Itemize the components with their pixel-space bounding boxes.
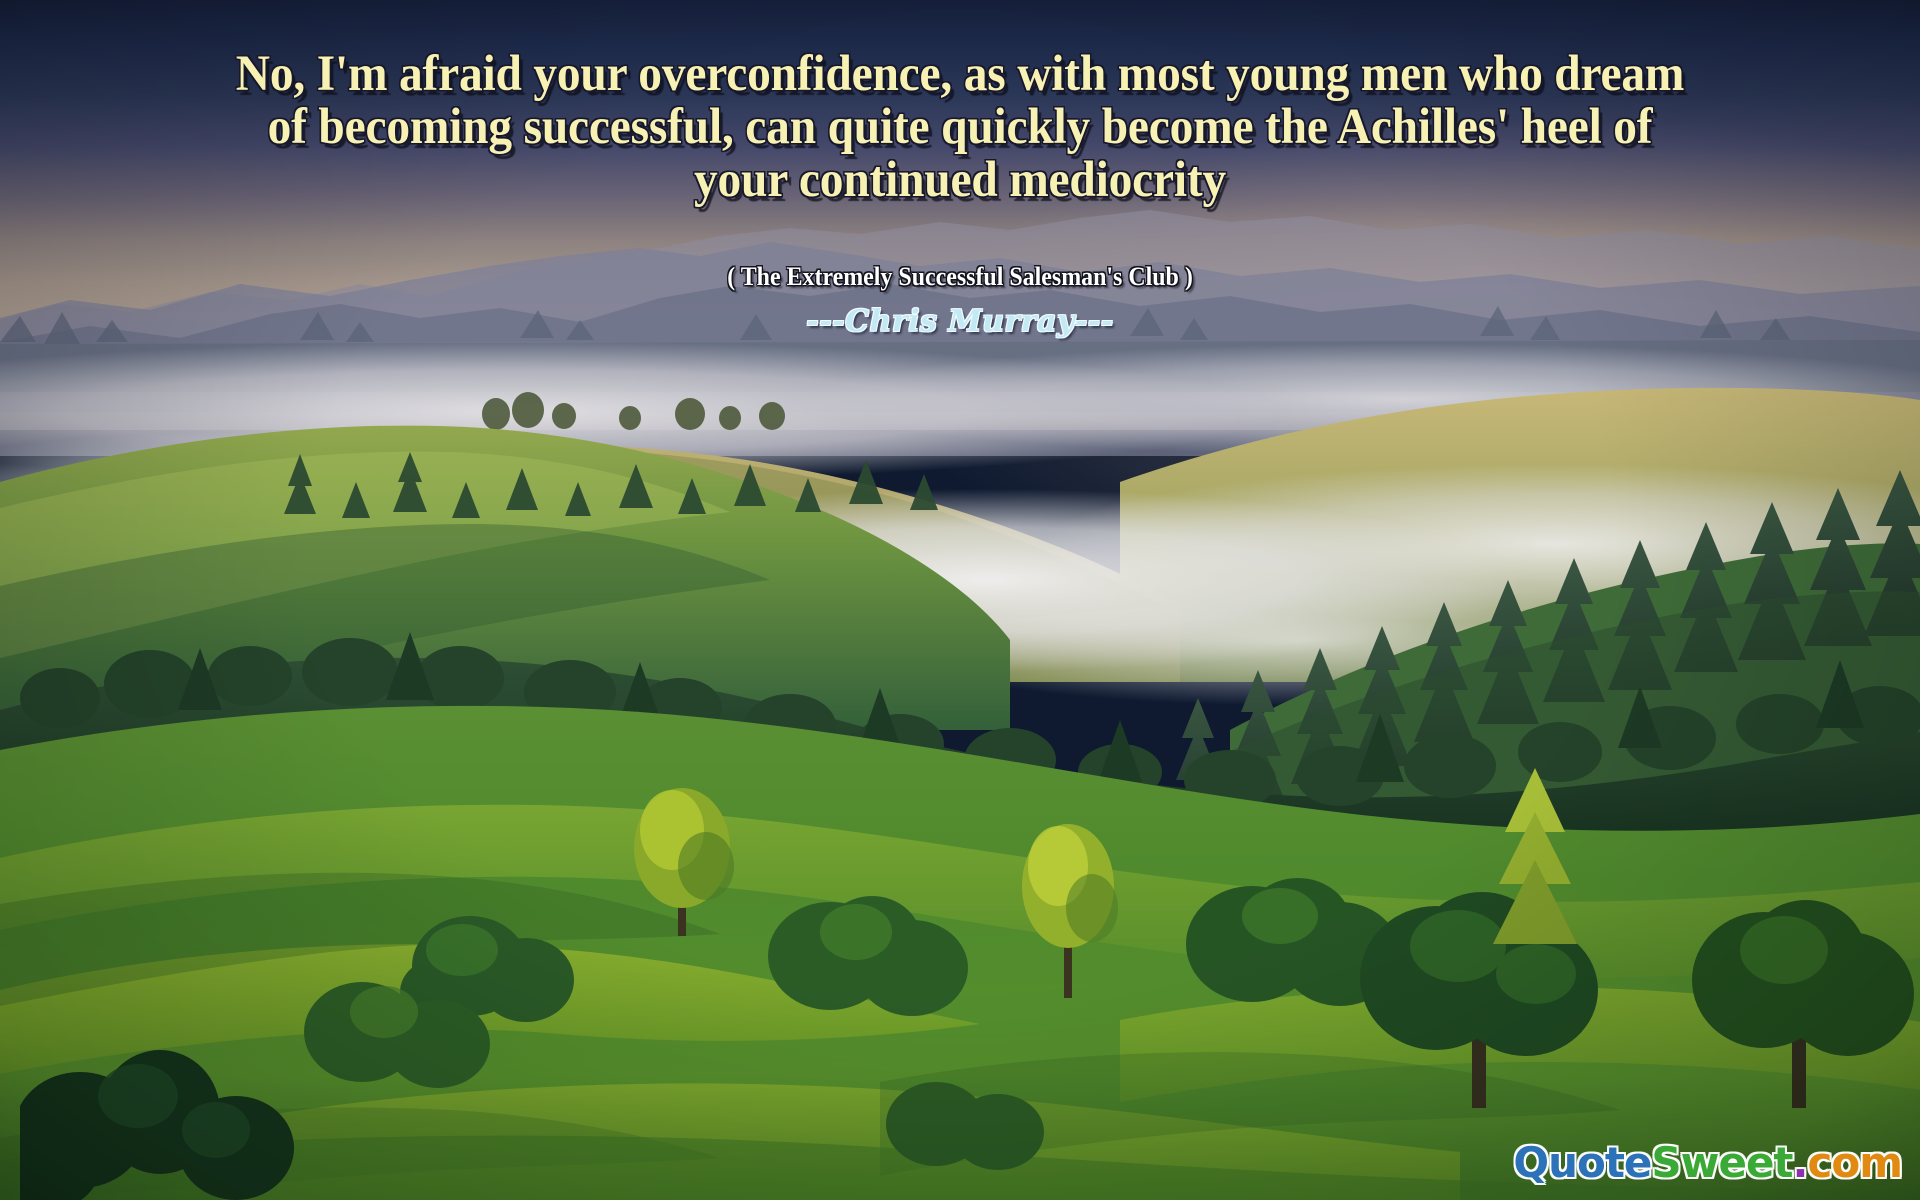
meadow-tree-yellow: [600, 760, 770, 940]
foreground-bush-left: [20, 1020, 320, 1200]
quote-image: No, I'm afraid your overconfidence, as w…: [0, 0, 1920, 1200]
watermark-com-text: com: [1807, 1138, 1902, 1187]
quote-line-3: your continued mediocrity: [188, 154, 1732, 207]
quote-line-2: of becoming successful, can quite quickl…: [188, 101, 1732, 154]
quote-source: ( The Extremely Successful Salesman's Cl…: [727, 262, 1193, 292]
meadow-shrub-bottom-center: [880, 1040, 1050, 1170]
watermark-dot: .: [1793, 1138, 1808, 1187]
quote-text-block: No, I'm afraid your overconfidence, as w…: [130, 48, 1790, 207]
watermark-sweet-text: Sweet: [1651, 1138, 1792, 1187]
quotesweet-watermark-logo[interactable]: QuoteSweet.com: [1513, 1140, 1902, 1186]
meadow-shrub-center: [760, 860, 990, 1020]
quote-author: ---Chris Murray---: [806, 304, 1113, 340]
watermark-quote-text: Quote: [1513, 1138, 1651, 1187]
meadow-shrub-lower-left: [300, 940, 500, 1090]
left-hill-conifers: [260, 394, 980, 544]
quote-line-1: No, I'm afraid your overconfidence, as w…: [188, 48, 1732, 101]
meadow-tree-tall-yellow: [990, 800, 1150, 1000]
conifer-foreground-right: [1480, 760, 1590, 950]
meadow-tree-far-right: [1680, 880, 1920, 1110]
